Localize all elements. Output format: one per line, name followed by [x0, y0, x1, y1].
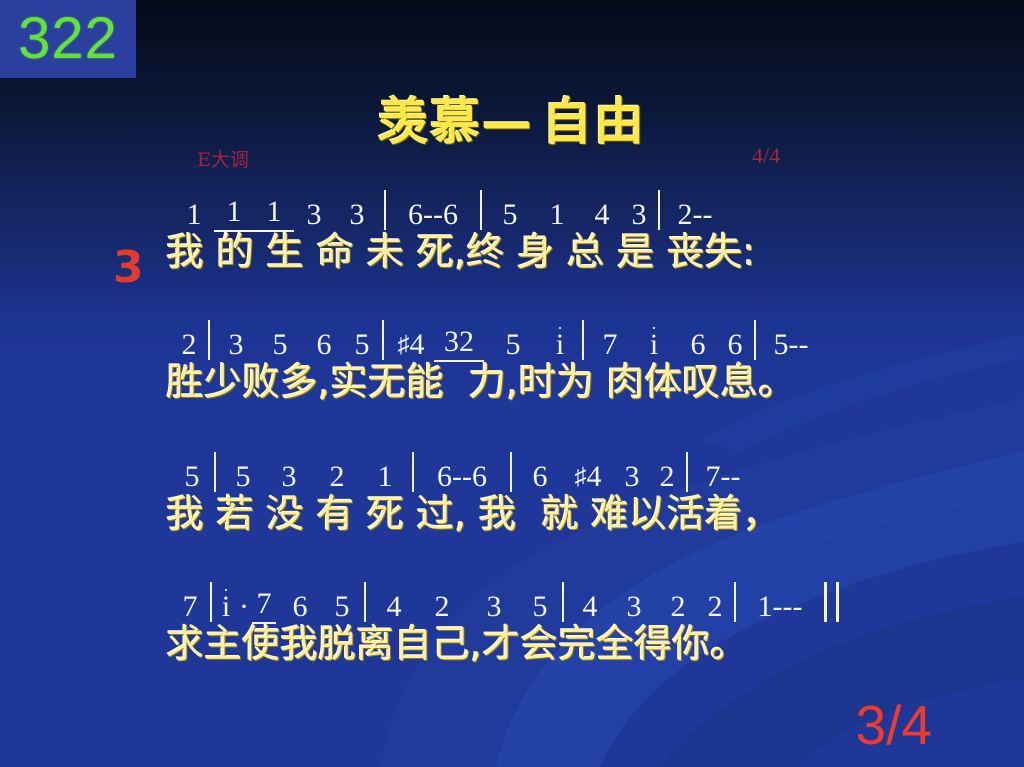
final-barline [824, 582, 839, 622]
note: 3 [612, 590, 656, 624]
note: 7 [252, 587, 276, 624]
note: 3 [334, 198, 380, 232]
note: 1--- [740, 590, 820, 624]
note: 7 [588, 328, 632, 362]
sharp-accidental-icon: ♯ [398, 332, 410, 358]
note: 5 [258, 328, 302, 362]
note: 4 [580, 198, 624, 232]
note: 3 [624, 198, 654, 232]
note: 2-- [664, 198, 726, 232]
barline [384, 190, 386, 230]
barline [382, 320, 384, 360]
stanza-1: 111336--651432-- 我 的 生 命 未 死,终 身 总 是 丧失: [166, 186, 756, 273]
octave-dot-icon: · [542, 319, 578, 337]
stanza-3: 553216--66♯4327-- 我 若 没 有 死 过, 我 就 难以活着， [166, 448, 781, 535]
note: ♯4 [388, 328, 434, 362]
note: 6 [720, 328, 750, 362]
note: 6 [516, 460, 564, 494]
note: 32 [434, 325, 484, 362]
note: 5 [346, 328, 378, 362]
note: ♯4 [564, 460, 612, 494]
barline [480, 190, 482, 230]
barline [686, 452, 688, 492]
notation-line-3: 553216--66♯4327-- [166, 448, 781, 494]
note: 4 [370, 590, 418, 624]
barline [734, 582, 736, 622]
notation-line-4: 7i··765423543221--- [166, 578, 843, 624]
note: 5 [486, 198, 534, 232]
note: 5 [174, 460, 210, 494]
octave-dot-icon: · [216, 581, 236, 599]
lyric-line-4: 求主使我脱离自己,才会完全得你。 [166, 624, 843, 665]
note: 6 [276, 590, 324, 624]
note: 1 [534, 198, 580, 232]
note: 3 [266, 460, 312, 494]
barline [582, 320, 584, 360]
note: 2 [418, 590, 466, 624]
note: 2 [312, 460, 362, 494]
barline [208, 320, 210, 360]
note: 1 [254, 195, 294, 232]
barline [210, 582, 212, 622]
note: 1 [214, 195, 254, 232]
stanza-2: 23565♯4325i·7i·665-- 胜少败多,实无能 力,时为 肉体叹息。 [166, 316, 822, 403]
title-part-2: 自由 [542, 93, 646, 151]
barline [510, 452, 512, 492]
note: 5 [522, 590, 558, 624]
note: 2 [174, 328, 204, 362]
title-dash: — [482, 93, 542, 151]
barline [658, 190, 660, 230]
barline [412, 452, 414, 492]
notation-line-2: 23565♯4325i·7i·665-- [166, 316, 822, 362]
note: 5 [324, 590, 360, 624]
verse-number-marker: 3 [113, 246, 144, 290]
barline [214, 452, 216, 492]
slide-number: 322 [18, 10, 118, 68]
title-part-1: 羡慕 [378, 93, 482, 151]
barline [364, 582, 366, 622]
lyric-line-3: 我 若 没 有 死 过, 我 就 难以活着， [166, 494, 781, 535]
lyric-line-2: 胜少败多,实无能 力,时为 肉体叹息。 [166, 362, 822, 403]
barline [754, 320, 756, 360]
lyric-line-1: 我 的 生 命 未 死,终 身 总 是 丧失: [166, 232, 756, 273]
key-signature: E大调 [197, 145, 249, 172]
note: 6--6 [390, 198, 476, 232]
note: 5 [484, 328, 542, 362]
note: 5 [220, 460, 266, 494]
time-signature: 4/4 [752, 143, 780, 169]
note: 2 [700, 590, 730, 624]
note: 1 [362, 460, 408, 494]
slide-number-badge: 322 [0, 0, 136, 78]
page-counter: 3/4 [856, 698, 932, 753]
notation-line-1: 111336--651432-- [166, 186, 756, 232]
note: 3 [612, 460, 652, 494]
note: 3 [214, 328, 258, 362]
note: 7 [174, 590, 206, 624]
note: · [236, 590, 252, 624]
note: 6 [676, 328, 720, 362]
stanza-4: 7i··765423543221--- 求主使我脱离自己,才会完全得你。 [166, 578, 843, 665]
note: 2 [652, 460, 682, 494]
note: 5-- [760, 328, 822, 362]
note: i· [632, 328, 676, 362]
note: 4 [568, 590, 612, 624]
note: 6 [302, 328, 346, 362]
barline [562, 582, 564, 622]
octave-dot-icon: · [632, 319, 676, 337]
page-title: 羡慕—自由 [0, 82, 1024, 154]
note: 3 [466, 590, 522, 624]
note: i· [542, 328, 578, 362]
note: i· [216, 590, 236, 624]
sharp-accidental-icon: ♯ [575, 464, 587, 490]
note: 6--6 [418, 460, 506, 494]
note: 3 [294, 198, 334, 232]
note: 7-- [692, 460, 754, 494]
presentation-slide: 322 羡慕—自由 E大调 4/4 3 111336--651432-- 我 的… [0, 0, 1024, 767]
note: 1 [174, 198, 214, 232]
note: 2 [656, 590, 700, 624]
